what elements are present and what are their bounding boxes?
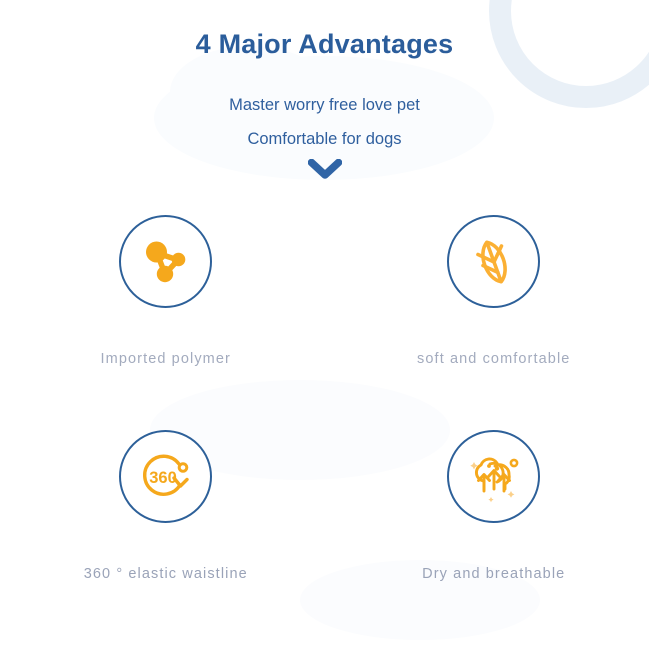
advantage-icon-circle — [447, 215, 540, 308]
molecule-polymer-icon — [140, 236, 192, 288]
cloud-breathable-icon — [467, 451, 521, 503]
advantage-label: Dry and breathable — [422, 566, 565, 582]
advantages-row-1: Imported polymer — [0, 215, 649, 430]
advantage-label: Imported polymer — [101, 351, 231, 367]
advantages-page: 4 Major Advantages Master worry free lov… — [0, 0, 649, 649]
advantage-item-dry-breathable[interactable]: Dry and breathable — [325, 430, 649, 645]
page-title: 4 Major Advantages — [0, 26, 649, 62]
advantage-icon-circle: 360 — [119, 430, 212, 523]
advantage-item-soft-comfortable[interactable]: soft and comfortable — [325, 215, 649, 430]
chevron-down-icon-wrap — [0, 158, 649, 182]
subtitle-line-1: Master worry free love pet — [0, 94, 649, 116]
chevron-down-icon — [308, 159, 342, 181]
subtitle-line-2: Comfortable for dogs — [0, 128, 649, 150]
360-icon-text: 360 — [149, 469, 177, 487]
advantages-grid: Imported polymer — [0, 215, 649, 645]
advantage-item-imported-polymer[interactable]: Imported polymer — [0, 215, 325, 430]
advantages-row-2: 360 360 ° elastic waistline — [0, 430, 649, 645]
360-degree-rotation-icon: 360 — [138, 450, 194, 504]
advantage-item-360-waistline[interactable]: 360 360 ° elastic waistline — [0, 430, 325, 645]
advantage-label: 360 ° elastic waistline — [84, 566, 248, 582]
advantage-icon-circle — [447, 430, 540, 523]
leaf-icon — [469, 237, 519, 287]
advantage-label: soft and comfortable — [417, 351, 570, 367]
advantage-icon-circle — [119, 215, 212, 308]
